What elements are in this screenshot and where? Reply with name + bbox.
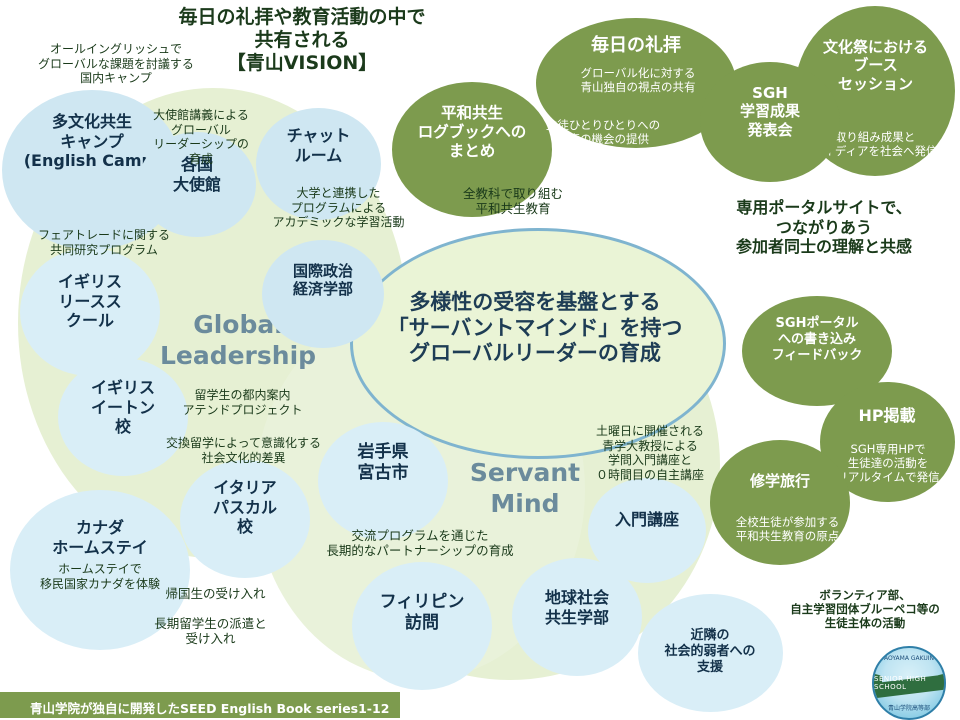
note-global-view: グローバル化に対する 青山独自の視点の共有 xyxy=(548,66,728,94)
note-saturday-lecture: 土曜日に開催される 青学大教授による 学問入門講座と ０時間目の自主講座 xyxy=(570,424,730,483)
note-exchange-diff: 交換留学によって意識化する 社会文化的差異 xyxy=(136,436,351,465)
seal-bottom-text: 青山学院高等部 xyxy=(874,703,944,712)
blob-support-neighbors-label: 近隣の 社会的弱者への 支援 xyxy=(635,628,785,676)
note-fairtrade: フェアトレードに関する 共同研究プログラム xyxy=(14,228,194,257)
school-seal-watermark: AOYAMA GAKUIN SENIOR HIGH SCHOOL 青山学院高等部 xyxy=(872,646,946,720)
note-longterm-exchange: 長期留学生の派遣と 受け入れ xyxy=(118,616,303,647)
blob-global-society-dept-label: 地球社会 共生学部 xyxy=(512,588,642,627)
blob-school-trip xyxy=(710,440,850,565)
note-all-students-peace: 全校生徒が参加する 平和共生教育の原点 xyxy=(700,515,875,543)
blob-canada-homestay-label: カナダ ホームステイ xyxy=(10,518,190,557)
note-thinking-opportunity: 生徒ひとりひとりへの 思索の機会の提供 xyxy=(513,118,693,146)
seal-center-text: SENIOR HIGH SCHOOL xyxy=(874,675,944,691)
blob-england-leeds-school-label: イギリス リースス クール xyxy=(20,272,160,331)
blob-sgh-presentation-label: SGH 学習成果 発表会 xyxy=(702,84,838,139)
note-portal-site: 専用ポータルサイトで、 つながりあう 参加者同士の理解と共感 xyxy=(690,198,958,257)
note-tokyo-guide: 留学生の都内案内 アテンドプロジェクト xyxy=(160,388,325,417)
core-label: 多様性の受容を基盤とする 「サーバントマインド」を持つ グローバルリーダーの育成 xyxy=(360,290,710,367)
seal-top-text: AOYAMA GAKUIN xyxy=(874,655,944,662)
blob-hp-posting-label: HP掲載 xyxy=(822,406,952,426)
blob-intro-lecture-label: 入門講座 xyxy=(588,510,706,530)
note-returnee: 帰国生の受け入れ xyxy=(128,586,303,601)
diagram-canvas: Global Leadership Servant Mind 多様性の受容を基盤… xyxy=(0,0,960,718)
blob-philippines-visit-label: フィリピン 訪問 xyxy=(352,592,492,633)
note-univ-program: 大学と連携した プログラムによる アカデミックな学習活動 xyxy=(256,186,421,230)
note-seed-book: 青山学院が独自に開発したSEED English Book series1-12 xyxy=(30,698,410,717)
blob-intl-politics-economics-label: 国際政治 経済学部 xyxy=(262,262,384,299)
note-partnership: 交流プログラムを通じた 長期的なパートナーシップの育成 xyxy=(300,528,540,559)
note-embassy-lecture: 大使館講義による グローバル リーダーシップの 育成 xyxy=(136,108,266,167)
blob-chat-room-label: チャット ルーム xyxy=(256,126,381,165)
blob-daily-worship-label: 毎日の礼拝 xyxy=(546,35,726,57)
blob-school-trip-label: 修学旅行 xyxy=(712,472,848,490)
blob-italy-pascal-school-label: イタリア パスカル 校 xyxy=(180,478,310,537)
blob-sgh-portal-feedback-label: SGHポータル への書き込み フィードバック xyxy=(744,316,890,364)
note-volunteer: ボランティア部、 自主学習団体ブルーペコ等の 生徒主体の活動 xyxy=(770,588,960,630)
note-all-english-camp: オールイングリッシュで グローバルな課題を討議する 国内キャンプ xyxy=(10,42,222,86)
note-peace-all-subjects: 全教科で取り組む 平和共生教育 xyxy=(438,186,588,217)
